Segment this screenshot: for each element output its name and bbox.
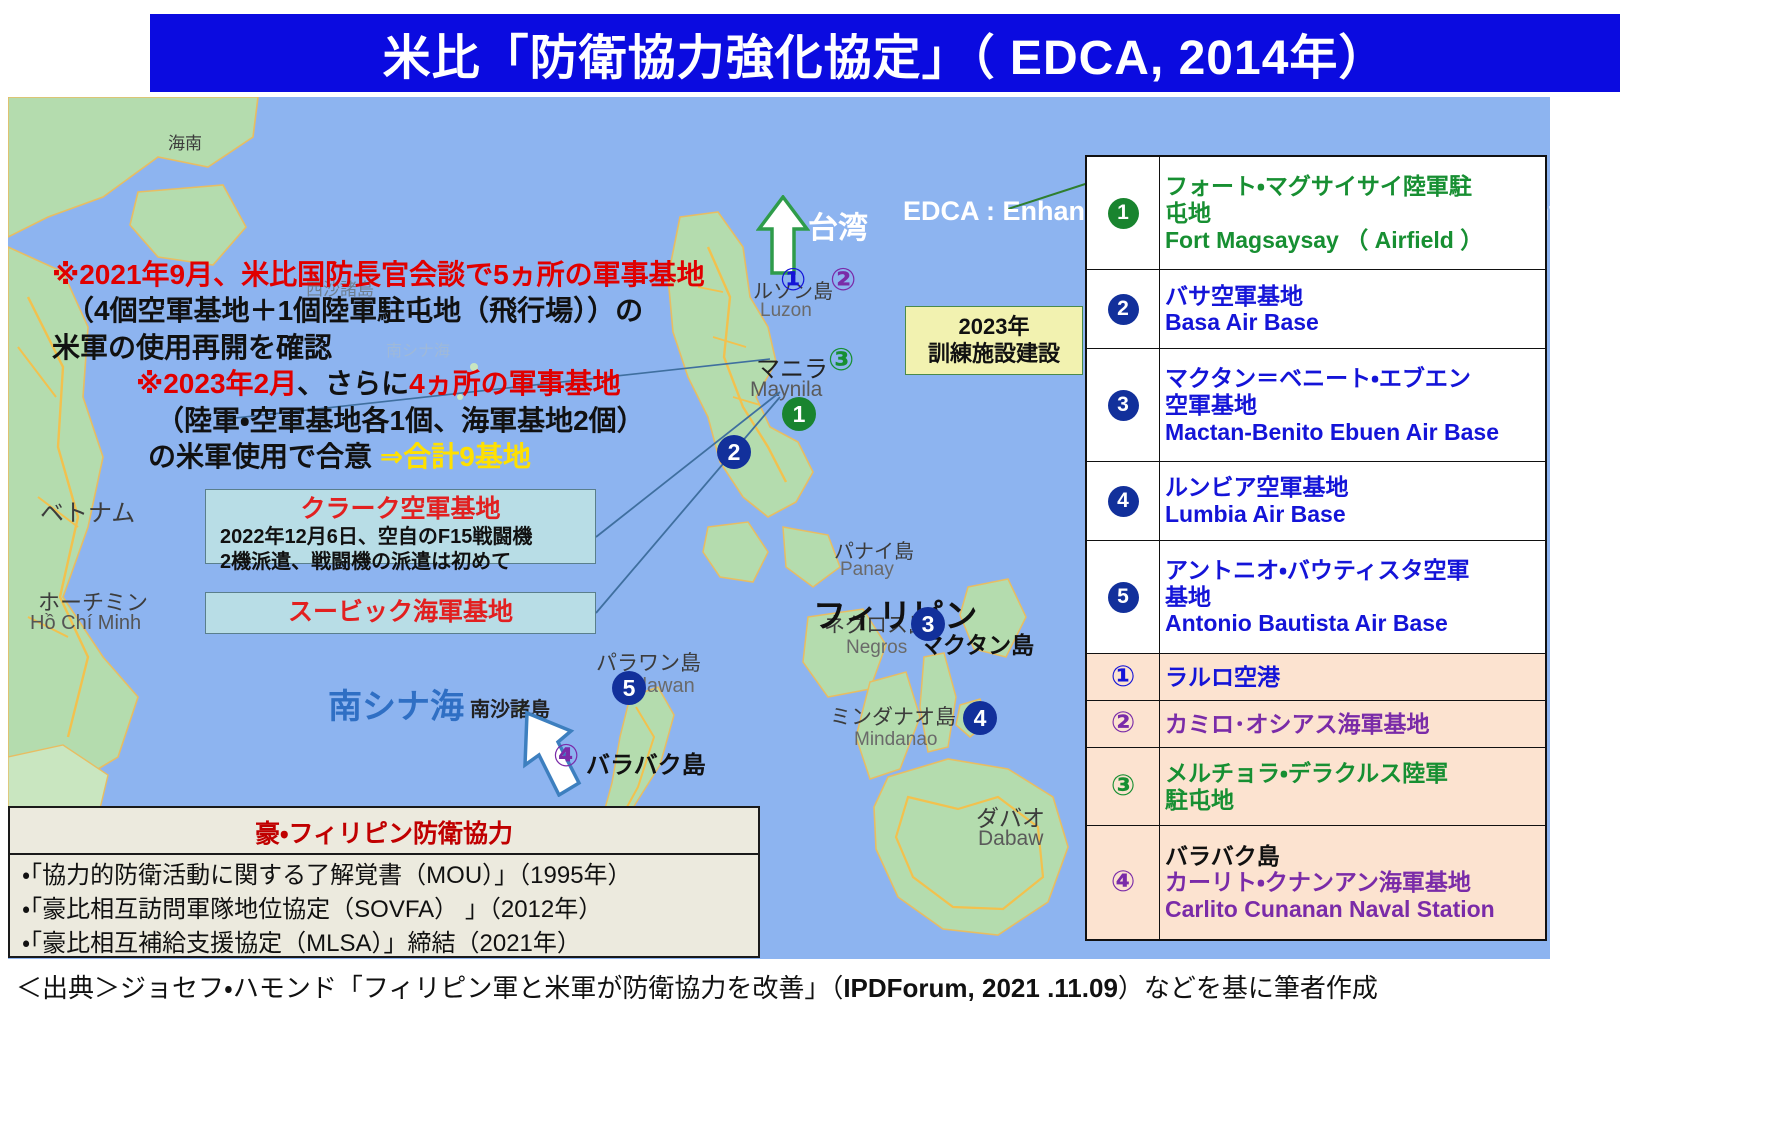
note-line-5: （陸軍・空軍基地各1個、海軍基地2個）: [52, 403, 772, 439]
map-label-hainan: 海南: [168, 129, 202, 154]
table-row-text-cell: アントニオ・バウティスタ空軍 基地 Antonio Bautista Air B…: [1160, 540, 1547, 653]
map-marker-num-3[interactable]: 3: [911, 607, 945, 641]
table-cell-line: ルンビア空軍基地: [1165, 474, 1540, 501]
note-line-6a: の米軍使用で合意: [148, 441, 380, 472]
table-row-text-cell: カミロ･オシアス海軍基地: [1160, 701, 1547, 748]
source-bold: IPDForum, 2021 .11.09: [843, 973, 1118, 1003]
table-row[interactable]: 3 マクタン＝ベニート・エブエン 空軍基地 Mactan-Benito Ebue…: [1086, 349, 1546, 462]
legend-item: ・「豪比相互訪問軍隊地位協定（SOVFA） 」（2012年）: [10, 893, 758, 927]
map-label-south-china-sea: 南シナ海: [328, 679, 464, 728]
map-label-hochiminh-en: Hồ Chí Minh: [30, 612, 141, 635]
map-marker-num-5[interactable]: 5: [612, 671, 646, 705]
table-cell-line: ラルロ空港: [1165, 664, 1540, 691]
clark-box-line-2: 2機派遣、戦闘機の派遣は初めて: [206, 550, 595, 574]
map-label-davao-en: Dabaw: [978, 827, 1043, 851]
source-attribution: ＜出典＞ジョセフ・ハモンド「フィリピン軍と米軍が防衛協力を改善」（IPDForu…: [16, 968, 1378, 1005]
australia-philippines-cooperation-box: 豪・フィリピン防衛協力 ・「協力的防衛活動に関する了解覚書（MOU）」（1995…: [8, 806, 760, 958]
note-line-4a: ※2023年2月: [136, 368, 297, 399]
table-row-number-cell: 5: [1086, 540, 1160, 653]
table-cell-line: Fort Magsaysay （ Airfield ）: [1165, 227, 1540, 254]
table-row-text-cell: フォート・マグサイサイ陸軍駐 屯地 Fort Magsaysay （ Airfi…: [1160, 156, 1547, 270]
table-cell-line: Antonio Bautista Air Base: [1165, 610, 1540, 637]
badge-filled-blue: 2: [1108, 294, 1139, 325]
table-cell-line: Mactan-Benito Ebuen Air Base: [1165, 419, 1540, 446]
page-title-bar: 米比「防衛協力強化協定」（ EDCA, 2014年）: [150, 14, 1620, 92]
table-cell-line: フォート・マグサイサイ陸軍駐: [1165, 173, 1540, 200]
table-row-text-cell: メルチョラ・デラクルス陸軍 駐屯地: [1160, 747, 1547, 826]
table-row[interactable]: 2 バサ空軍基地 Basa Air Base: [1086, 270, 1546, 349]
table-row-number-cell: 2: [1086, 270, 1160, 349]
badge-filled-blue: 4: [1108, 486, 1139, 517]
table-cell-line: バラバク島: [1165, 843, 1540, 870]
map-label-mindanao-en: Mindanao: [854, 729, 937, 751]
badge-outline-purple: ④: [1111, 868, 1136, 897]
table-row-number-cell: ②: [1086, 701, 1160, 748]
clark-air-base-box: クラーク空軍基地 2022年12月6日、空自のF15戦闘機 2機派遣、戦闘機の派…: [205, 489, 596, 564]
table-cell-line: 駐屯地: [1165, 787, 1540, 814]
map-marker-circle-1[interactable]: ①: [780, 262, 806, 298]
note-line-1: ※2021年9月、米比国防長官会談で5ヵ所の軍事基地: [52, 257, 772, 293]
map-label-mindanao-jp: ミンダナオ島: [830, 701, 956, 731]
map-marker-circle-2[interactable]: ②: [830, 262, 856, 298]
badge-filled-blue: 3: [1108, 390, 1139, 421]
note-line-4b: 、さらに: [297, 368, 409, 399]
table-row-text-cell: マクタン＝ベニート・エブエン 空軍基地 Mactan-Benito Ebuen …: [1160, 349, 1547, 462]
table-row-number-cell: ④: [1086, 826, 1160, 940]
source-prefix: ＜出典＞ジョセフ・ハモンド「フィリピン軍と米軍が防衛協力を改善」（: [16, 973, 843, 1003]
table-cell-line: アントニオ・バウティスタ空軍: [1165, 557, 1540, 584]
table-cell-line: マクタン＝ベニート・エブエン: [1165, 365, 1540, 392]
badge-outline-blue: ①: [1111, 663, 1136, 692]
source-suffix: ）などを基に筆者作成: [1118, 973, 1378, 1003]
infographic-page: 米比「防衛協力強化協定」（ EDCA, 2014年）: [0, 0, 1770, 1142]
note-line-2: （4個空軍基地＋1個陸軍駐屯地（飛行場））の: [52, 293, 772, 329]
base-list-table: 1 フォート・マグサイサイ陸軍駐 屯地 Fort Magsaysay （ Air…: [1085, 155, 1547, 941]
map-marker-circle-4[interactable]: ④: [553, 738, 579, 774]
table-row[interactable]: ① ラルロ空港: [1086, 654, 1546, 701]
page-title: 米比「防衛協力強化協定」（ EDCA, 2014年）: [383, 18, 1388, 88]
map-marker-circle-3[interactable]: ③: [828, 342, 854, 378]
clark-box-line-1: 2022年12月6日、空自のF15戦闘機: [206, 525, 595, 549]
map-marker-num-4[interactable]: 4: [963, 701, 997, 735]
table-cell-line: バサ空軍基地: [1165, 283, 1540, 310]
callout-line-1: 2023年: [959, 314, 1030, 340]
badge-outline-green: ③: [1111, 772, 1136, 801]
map-label-philippines: フィリピン: [813, 589, 977, 637]
table-row-text-cell: バラバク島 カーリト・クナンアン海軍基地 Carlito Cunanan Nav…: [1160, 826, 1547, 940]
table-row-number-cell: 4: [1086, 462, 1160, 541]
table-cell-line: 屯地: [1165, 200, 1540, 227]
table-row-number-cell: 3: [1086, 349, 1160, 462]
table-row[interactable]: ② カミロ･オシアス海軍基地: [1086, 701, 1546, 748]
note-line-1a: ※2021年9月、: [52, 259, 241, 290]
subic-box-title: スービック海軍基地: [288, 597, 513, 628]
table-row-text-cell: バサ空軍基地 Basa Air Base: [1160, 270, 1547, 349]
map-label-palawan-jp: パラワン島: [596, 647, 701, 677]
badge-filled-blue: 5: [1108, 582, 1139, 613]
table-cell-line: Carlito Cunanan Naval Station: [1165, 896, 1540, 923]
table-row-number-cell: ③: [1086, 747, 1160, 826]
badge-outline-purple: ②: [1111, 709, 1136, 738]
map-marker-num-1[interactable]: 1: [782, 397, 816, 431]
table-row-number-cell: 1: [1086, 156, 1160, 270]
legend-item: ・「協力的防衛活動に関する了解覚書（MOU）」（1995年）: [10, 859, 758, 893]
table-row-text-cell: ラルロ空港: [1160, 654, 1547, 701]
map-label-taiwan: 台湾: [808, 203, 868, 247]
note-line-3: 米軍の使用再開を確認: [52, 330, 772, 366]
map-label-panay-en: Panay: [840, 559, 894, 581]
callout-line-2: 訓練施設建設: [928, 341, 1060, 367]
table-cell-line: 空軍基地: [1165, 392, 1540, 419]
subic-naval-base-box: スービック海軍基地: [205, 592, 596, 634]
table-row[interactable]: ③ メルチョラ・デラクルス陸軍 駐屯地: [1086, 747, 1546, 826]
badge-filled-green: 1: [1108, 198, 1139, 229]
map-label-vietnam: ベトナム: [40, 493, 135, 528]
callout-2023-training-facility: 2023年 訓練施設建設: [905, 306, 1083, 375]
table-row[interactable]: 4 ルンビア空軍基地 Lumbia Air Base: [1086, 462, 1546, 541]
note-line-4c: 4ヵ所の軍事基地: [409, 368, 621, 399]
map-label-balabac: バラバク島: [586, 745, 706, 780]
table-row[interactable]: 5 アントニオ・バウティスタ空軍 基地 Antonio Bautista Air…: [1086, 540, 1546, 653]
table-cell-line: 基地: [1165, 584, 1540, 611]
map-label-negros-en: Negros: [846, 637, 907, 659]
note-line-6: の米軍使用で合意 ⇒合計9基地: [52, 439, 772, 475]
table-cell-line: Lumbia Air Base: [1165, 501, 1540, 528]
table-cell-line: カミロ･オシアス海軍基地: [1165, 711, 1540, 738]
note-line-6b: ⇒合計9基地: [380, 441, 531, 472]
table-cell-line: カーリト・クナンアン海軍基地: [1165, 869, 1540, 896]
table-row[interactable]: ④ バラバク島 カーリト・クナンアン海軍基地 Carlito Cunanan N…: [1086, 826, 1546, 940]
legend-item: ・「豪比相互補給支援協定（MLSA）」締結（2021年）: [10, 927, 758, 961]
table-row-text-cell: ルンビア空軍基地 Lumbia Air Base: [1160, 462, 1547, 541]
note-line-1b: 米比国防長官会談で5ヵ所の軍事基地: [241, 259, 705, 290]
table-row-number-cell: ①: [1086, 654, 1160, 701]
legend-title: 豪・フィリピン防衛協力: [10, 808, 758, 855]
note-line-4: ※2023年2月、さらに4ヵ所の軍事基地: [52, 366, 772, 402]
clark-box-title: クラーク空軍基地: [206, 494, 595, 525]
notes-block: ※2021年9月、米比国防長官会談で5ヵ所の軍事基地 （4個空軍基地＋1個陸軍駐…: [52, 257, 772, 475]
table-cell-line: メルチョラ・デラクルス陸軍: [1165, 760, 1540, 787]
table-cell-line: Basa Air Base: [1165, 309, 1540, 336]
table-row[interactable]: 1 フォート・マグサイサイ陸軍駐 屯地 Fort Magsaysay （ Air…: [1086, 156, 1546, 270]
